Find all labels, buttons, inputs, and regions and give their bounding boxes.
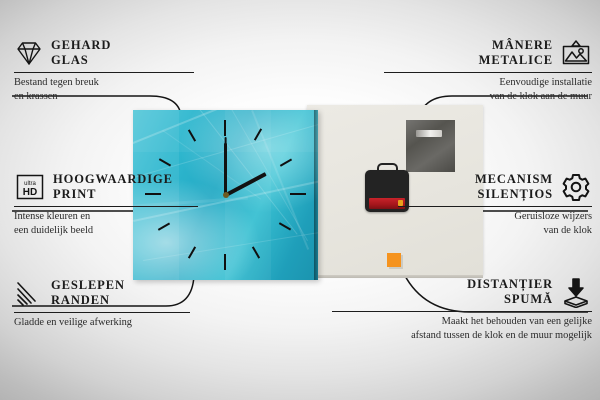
feature-header: MECANISM SILENȚIOS: [398, 172, 592, 203]
orange-foam-spacer: [387, 253, 401, 267]
clock-tick: [224, 120, 226, 136]
mechanism-hook: [377, 163, 398, 174]
feature-divider: [14, 312, 190, 313]
feature-title: MECANISM SILENȚIOS: [475, 172, 553, 203]
feature-description: Intense kleuren en een duidelijk beeld: [14, 210, 198, 238]
feature-title: GEHARD GLAS: [51, 38, 111, 69]
feature-description: Geruisloze wijzers van de klok: [398, 210, 592, 238]
feature-tempered-glass: GEHARD GLAS Bestand tegen breuk en krass…: [14, 38, 194, 104]
ultra-hd-icon: ultra HD: [14, 173, 46, 201]
spacer-press-icon: [560, 276, 592, 308]
feature-header: MÂNERE METALICE: [384, 38, 592, 69]
feature-description: Maakt het behouden van een gelijke afsta…: [332, 315, 592, 343]
feature-header: GEHARD GLAS: [14, 38, 194, 69]
clock-second-hand: [225, 137, 227, 195]
infographic-canvas: GEHARD GLAS Bestand tegen breuk en krass…: [0, 0, 600, 400]
feature-divider: [398, 206, 592, 207]
clock-center-cap: [223, 192, 229, 198]
feature-metal-hangers: MÂNERE METALICE Eenvoudige installatie v…: [384, 38, 592, 104]
feature-foam-spacer: DISTANȚIER SPUMĂ Maakt het behouden van …: [332, 276, 592, 343]
beveled-edges-icon: [14, 280, 44, 306]
clock-beveled-edge: [314, 110, 318, 280]
feature-description: Bestand tegen breuk en krassen: [14, 76, 194, 104]
feature-title: DISTANȚIER SPUMĂ: [467, 277, 553, 308]
metal-hanger-plate: [406, 120, 455, 172]
feature-title: HOOGWAARDIGE PRINT: [53, 172, 173, 203]
gear-icon: [560, 172, 592, 202]
feature-divider: [14, 206, 198, 207]
diamond-icon: [14, 40, 44, 66]
feature-header: ultra HD HOOGWAARDIGE PRINT: [14, 172, 198, 203]
feature-title: GESLEPEN RANDEN: [51, 278, 125, 309]
feature-divider: [14, 72, 194, 73]
feature-description: Eenvoudige installatie van de klok aan d…: [384, 76, 592, 104]
feature-header: GESLEPEN RANDEN: [14, 278, 190, 309]
feature-silent-mechanism: MECANISM SILENȚIOS Geruisloze wijzers va…: [398, 172, 592, 238]
feature-divider: [384, 72, 592, 73]
clock-tick: [290, 193, 306, 195]
feature-divider: [332, 311, 592, 312]
feature-header: DISTANȚIER SPUMĂ: [332, 276, 592, 308]
feature-title: MÂNERE METALICE: [479, 38, 553, 69]
feature-polished-edges: GESLEPEN RANDEN Gladde en veilige afwerk…: [14, 278, 190, 330]
hanger-slot: [416, 130, 442, 137]
feature-hd-print: ultra HD HOOGWAARDIGE PRINT Intense kleu…: [14, 172, 198, 238]
picture-frame-hanger-icon: [560, 39, 592, 67]
clock-tick: [224, 254, 226, 270]
svg-text:HD: HD: [23, 187, 37, 198]
feature-description: Gladde en veilige afwerking: [14, 316, 190, 330]
clock-tick: [280, 158, 292, 166]
